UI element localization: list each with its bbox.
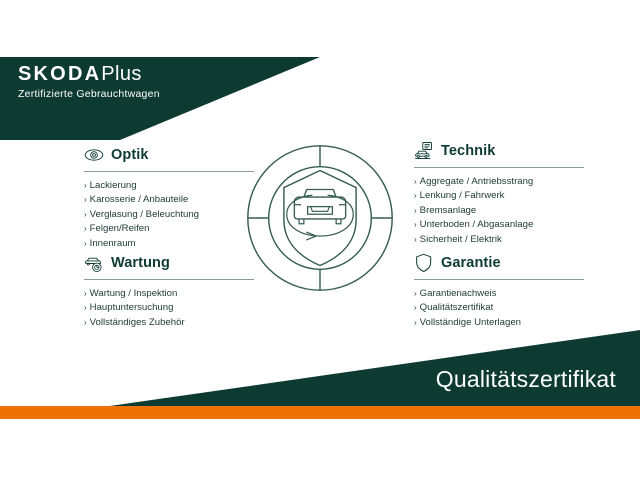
list-item-label: Garantienachweis xyxy=(420,287,497,301)
section-garantie-title: Garantie xyxy=(441,255,501,271)
section-technik-list: ›Aggregate / Antriebsstrang ›Lenkung / F… xyxy=(414,175,594,247)
section-optik-header: Optik xyxy=(84,144,264,166)
brand-logo-primary: SKODA xyxy=(18,63,101,85)
list-item-label: Felgen/Reifen xyxy=(90,222,150,236)
certified-vehicle-emblem xyxy=(244,142,396,294)
list-item-label: Lenkung / Fahrwerk xyxy=(420,189,505,203)
chevron-right-icon: › xyxy=(414,204,417,218)
list-item: ›Hauptuntersuchung xyxy=(84,301,264,315)
section-technik: Technik ›Aggregate / Antriebsstrang ›Len… xyxy=(414,140,594,247)
list-item: ›Vollständiges Zubehör xyxy=(84,316,264,330)
list-item: ›Lenkung / Fahrwerk xyxy=(414,189,594,203)
section-optik-list: ›Lackierung ›Karosserie / Anbauteile ›Ve… xyxy=(84,179,264,251)
section-optik: Optik ›Lackierung ›Karosserie / Anbautei… xyxy=(84,144,264,251)
section-garantie-header: Garantie xyxy=(414,252,594,274)
section-wartung-header: Wartung xyxy=(84,252,264,274)
chevron-right-icon: › xyxy=(84,208,87,222)
list-item: ›Sicherheit / Elektrik xyxy=(414,233,594,247)
list-item-label: Karosserie / Anbauteile xyxy=(90,193,189,207)
orange-stripe xyxy=(0,406,640,419)
section-technik-header: Technik xyxy=(414,140,594,162)
certificate-poster: SKODAPlus Zertifizierte Gebrauchtwagen O… xyxy=(0,0,640,480)
chevron-right-icon: › xyxy=(414,218,417,232)
list-item-label: Vollständige Unterlagen xyxy=(420,316,521,330)
section-technik-title: Technik xyxy=(441,143,495,159)
brand-tagline: Zertifizierte Gebrauchtwagen xyxy=(18,88,160,100)
list-item: ›Wartung / Inspektion xyxy=(84,287,264,301)
section-optik-rule xyxy=(84,171,254,172)
list-item: ›Felgen/Reifen xyxy=(84,222,264,236)
section-optik-title: Optik xyxy=(111,147,149,163)
section-wartung: Wartung ›Wartung / Inspektion ›Hauptunte… xyxy=(84,252,264,330)
chevron-right-icon: › xyxy=(84,193,87,207)
list-item-label: Aggregate / Antriebsstrang xyxy=(420,175,534,189)
chevron-right-icon: › xyxy=(414,316,417,330)
list-item: ›Vollständige Unterlagen xyxy=(414,316,594,330)
chevron-right-icon: › xyxy=(414,175,417,189)
section-wartung-rule xyxy=(84,279,254,280)
section-garantie: Garantie ›Garantienachweis ›Qualitätszer… xyxy=(414,252,594,330)
chevron-right-icon: › xyxy=(84,316,87,330)
eye-icon xyxy=(84,145,104,165)
list-item: ›Verglasung / Beleuchtung xyxy=(84,208,264,222)
chevron-right-icon: › xyxy=(84,301,87,315)
list-item: ›Unterboden / Abgasanlage xyxy=(414,218,594,232)
list-item: ›Garantienachweis xyxy=(414,287,594,301)
brand-logo-line: SKODAPlus xyxy=(18,64,160,84)
list-item-label: Vollständiges Zubehör xyxy=(90,316,185,330)
brand-logo-secondary: Plus xyxy=(101,63,142,85)
list-item-label: Wartung / Inspektion xyxy=(90,287,178,301)
chevron-right-icon: › xyxy=(414,287,417,301)
chevron-right-icon: › xyxy=(414,301,417,315)
section-wartung-list: ›Wartung / Inspektion ›Hauptuntersuchung… xyxy=(84,287,264,330)
list-item: ›Innenraum xyxy=(84,237,264,251)
chevron-right-icon: › xyxy=(84,237,87,251)
chevron-right-icon: › xyxy=(414,233,417,247)
shield-icon xyxy=(414,253,434,273)
list-item-label: Lackierung xyxy=(90,179,137,193)
list-item: ›Lackierung xyxy=(84,179,264,193)
chevron-right-icon: › xyxy=(84,179,87,193)
list-item-label: Bremsanlage xyxy=(420,204,477,218)
list-item-label: Sicherheit / Elektrik xyxy=(420,233,502,247)
list-item-label: Unterboden / Abgasanlage xyxy=(420,218,534,232)
brand-logo: SKODAPlus Zertifizierte Gebrauchtwagen xyxy=(18,64,160,100)
list-item-label: Qualitätszertifikat xyxy=(420,301,494,315)
section-garantie-list: ›Garantienachweis ›Qualitätszertifikat ›… xyxy=(414,287,594,330)
section-garantie-rule xyxy=(414,279,584,280)
list-item-label: Hauptuntersuchung xyxy=(90,301,174,315)
footer-title: Qualitätszertifikat xyxy=(436,366,616,393)
car-lift-icon xyxy=(414,141,434,161)
chevron-right-icon: › xyxy=(414,189,417,203)
list-item: ›Bremsanlage xyxy=(414,204,594,218)
list-item-label: Innenraum xyxy=(90,237,136,251)
list-item: ›Aggregate / Antriebsstrang xyxy=(414,175,594,189)
list-item-label: Verglasung / Beleuchtung xyxy=(90,208,199,222)
chevron-right-icon: › xyxy=(84,222,87,236)
section-technik-rule xyxy=(414,167,584,168)
chevron-right-icon: › xyxy=(84,287,87,301)
list-item: ›Karosserie / Anbauteile xyxy=(84,193,264,207)
section-wartung-title: Wartung xyxy=(111,255,170,271)
car-service-clock-icon xyxy=(84,253,104,273)
list-item: ›Qualitätszertifikat xyxy=(414,301,594,315)
